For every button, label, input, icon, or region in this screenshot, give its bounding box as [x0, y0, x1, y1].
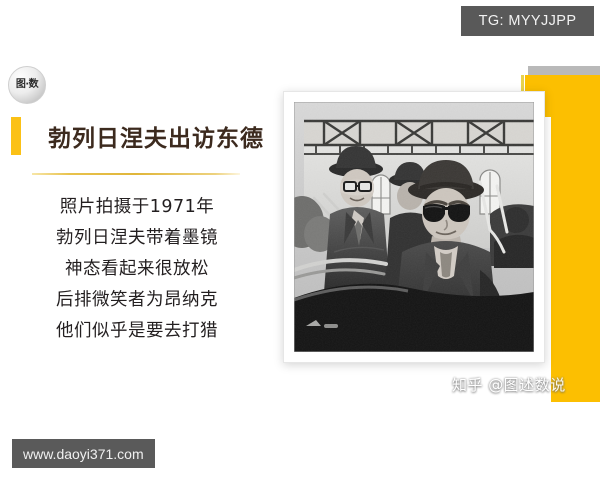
- title-accent-bar: [11, 117, 21, 155]
- body-line: 照片拍摄于1971年: [18, 192, 256, 223]
- page-title: 勃列日涅夫出访东德: [48, 119, 264, 153]
- title-divider: [32, 173, 240, 175]
- body-line: 神态看起来很放松: [18, 254, 256, 285]
- photo-frame: [283, 91, 545, 363]
- zhihu-watermark: 知乎 @图述数说: [452, 374, 566, 395]
- body-line: 他们似乎是要去打猎: [18, 316, 256, 347]
- accent-yellow-right-bar: [551, 75, 600, 402]
- accent-gray-strip: [528, 66, 600, 75]
- historic-photo-graphic: [294, 102, 534, 352]
- historic-photo: [294, 102, 534, 352]
- article-body: 照片拍摄于1971年 勃列日涅夫带着墨镜 神态看起来很放松 后排微笑者为昂纳克 …: [18, 192, 256, 347]
- tg-channel-tag: TG: MYYJJPP: [461, 6, 594, 36]
- brand-logo-badge: 图·数: [8, 66, 46, 104]
- body-line: 勃列日涅夫带着墨镜: [18, 223, 256, 254]
- body-line: 后排微笑者为昂纳克: [18, 285, 256, 316]
- site-watermark: www.daoyi371.com: [12, 439, 155, 468]
- brand-logo-label: 图·数: [16, 80, 38, 90]
